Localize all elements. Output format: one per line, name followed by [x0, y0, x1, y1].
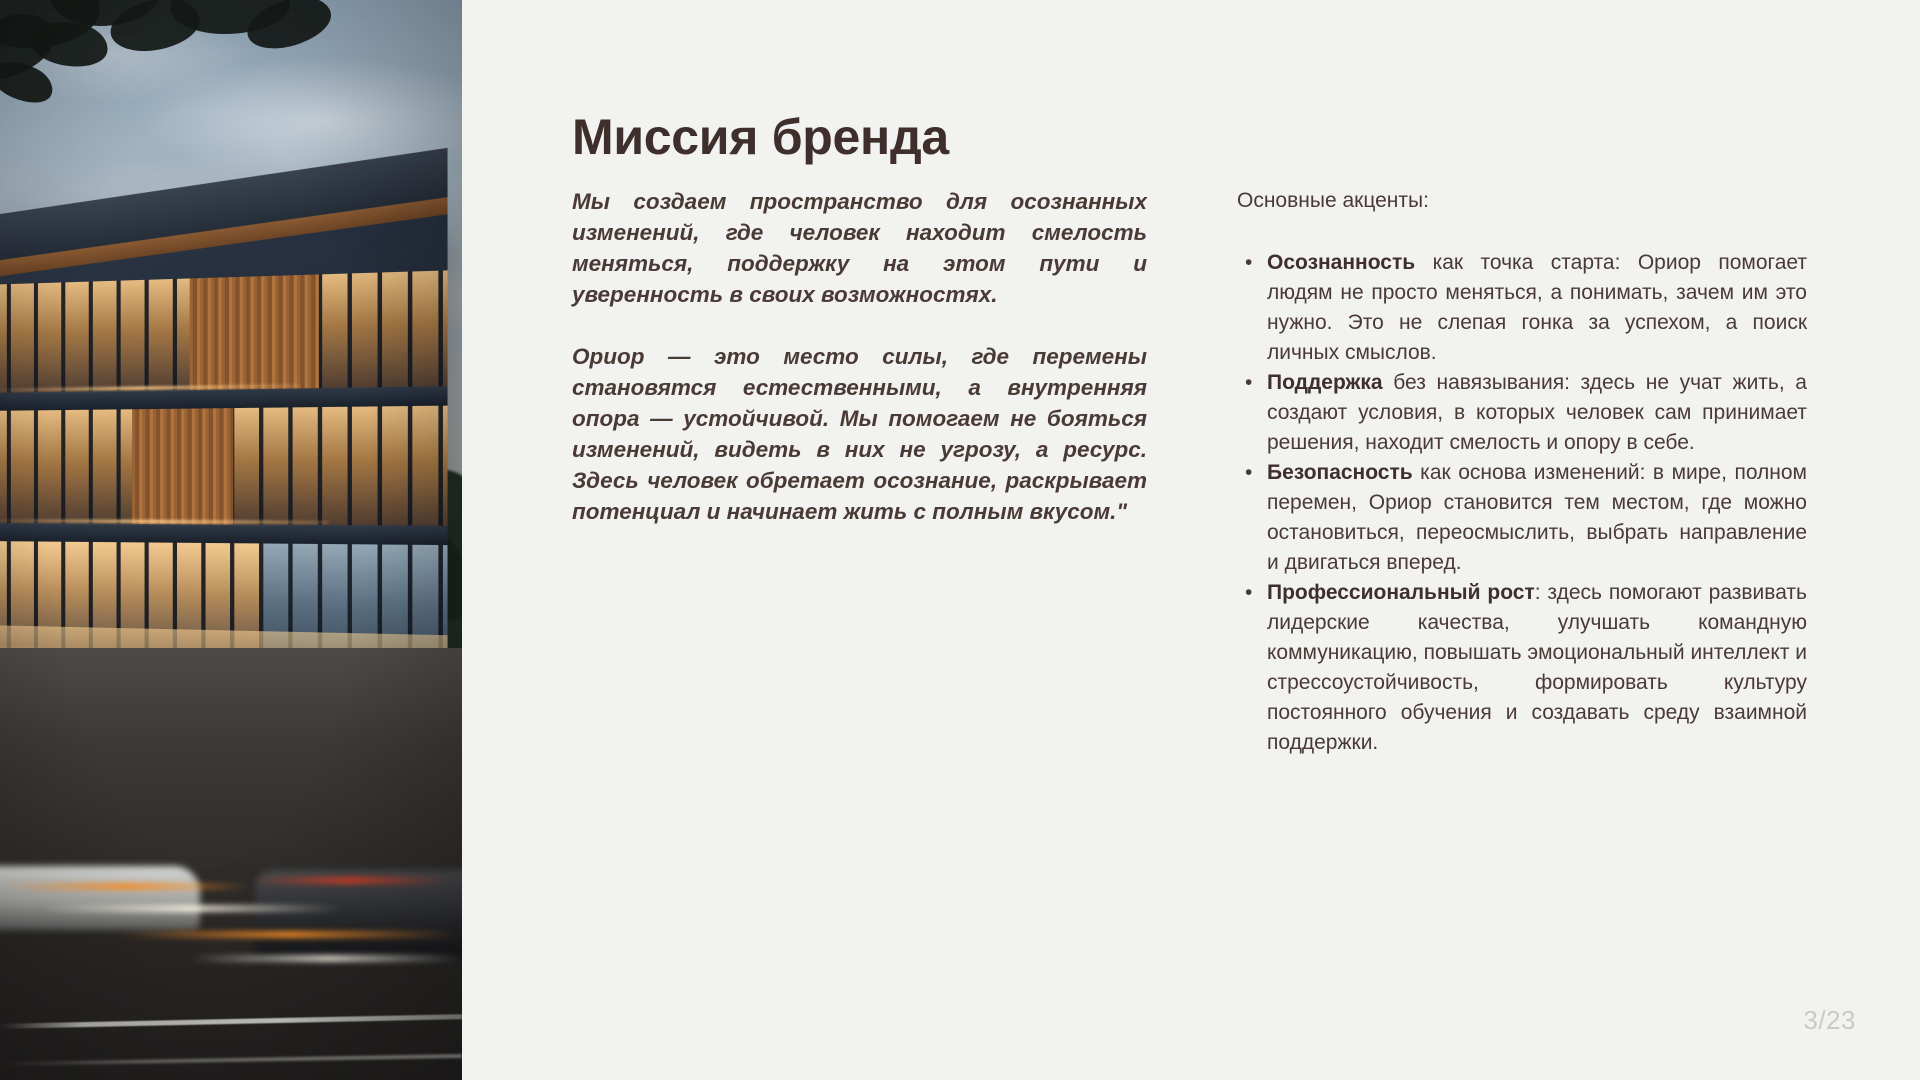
hero-image-panel [0, 0, 462, 1080]
list-item: Профессиональный рост: здесь помогают ра… [1267, 578, 1807, 758]
accents-column: Основные акценты: Осознанность как точка… [1237, 186, 1807, 758]
light-streak [120, 931, 460, 938]
list-item: Безопасность как основа изменений: в мир… [1267, 458, 1807, 578]
light-streak [40, 905, 340, 912]
light-streak [190, 955, 462, 962]
accents-heading: Основные акценты: [1237, 186, 1807, 216]
page-title: Миссия бренда [572, 108, 949, 166]
accent-term: Профессиональный рост [1267, 581, 1535, 604]
list-item: Поддержка без навязывания: здесь не учат… [1267, 368, 1807, 458]
accent-text: : здесь помогают развивать лидерские кач… [1267, 581, 1807, 754]
two-column-layout: Мы создаем пространство для осознанных и… [572, 186, 1772, 758]
accents-list: Осознанность как точка старта: Ориор пом… [1237, 248, 1807, 758]
mission-column: Мы создаем пространство для осознанных и… [572, 186, 1147, 758]
foliage-silhouette-secondary [150, 0, 350, 120]
mission-paragraph-1: Мы создаем пространство для осознанных и… [572, 186, 1147, 310]
accent-term: Безопасность [1267, 461, 1413, 484]
slide-content: Миссия бренда Мы создаем пространство дл… [462, 0, 1920, 1080]
list-item: Осознанность как точка старта: Ориор пом… [1267, 248, 1807, 368]
accent-term: Поддержка [1267, 371, 1383, 394]
wood-panel [132, 408, 233, 524]
light-streak [0, 883, 250, 890]
slide: Миссия бренда Мы создаем пространство дл… [0, 0, 1920, 1080]
blurred-car [0, 866, 200, 930]
wood-panel [190, 274, 319, 390]
accent-term: Осознанность [1267, 251, 1415, 274]
mission-paragraph-2: Ориор — это место силы, где перемены ста… [572, 341, 1147, 527]
light-streak [250, 877, 450, 884]
page-number: 3/23 [1803, 1005, 1856, 1036]
